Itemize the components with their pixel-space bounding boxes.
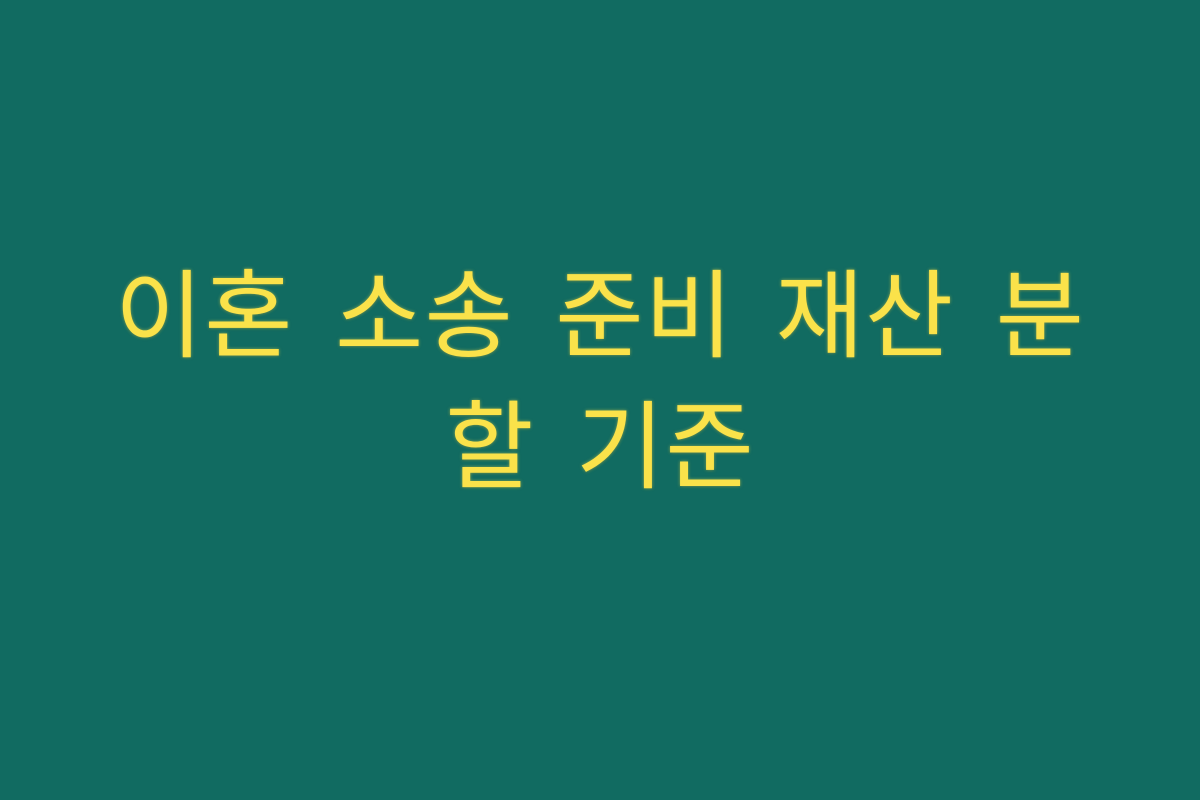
page-title: 이혼 소송 준비 재산 분 할 기준 xyxy=(0,251,1200,512)
title-banner: 이혼 소송 준비 재산 분 할 기준 xyxy=(0,0,1200,800)
page-title-line-1: 이혼 소송 준비 재산 분 xyxy=(60,251,1140,382)
page-title-line-2: 할 기준 xyxy=(60,382,1140,513)
